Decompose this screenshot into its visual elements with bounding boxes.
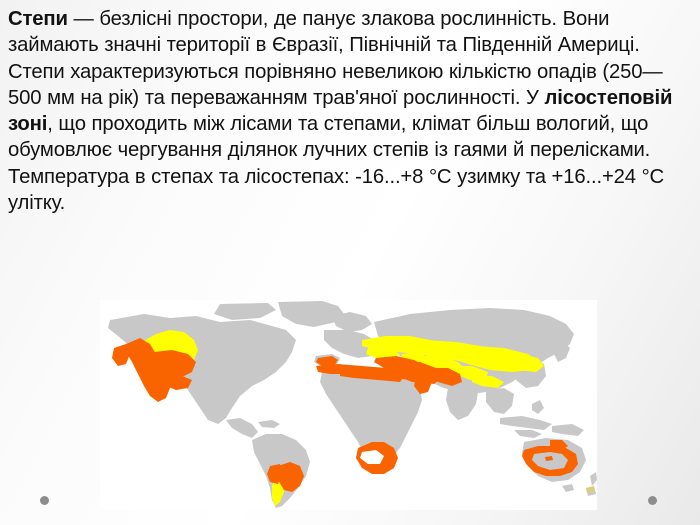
paragraph-segment-2: , що проходить між лісами та степами, кл… (8, 113, 664, 214)
bullet-dot-right (648, 496, 657, 505)
slide-body-text: Степи — безлісні простори, де панує злак… (8, 6, 694, 216)
bullet-dot-left (40, 496, 49, 505)
slide-canvas: Степи — безлісні простори, де панує злак… (0, 0, 700, 525)
lead-term: Степи (8, 8, 68, 30)
world-map-image (100, 300, 597, 510)
world-map-svg (100, 300, 597, 510)
